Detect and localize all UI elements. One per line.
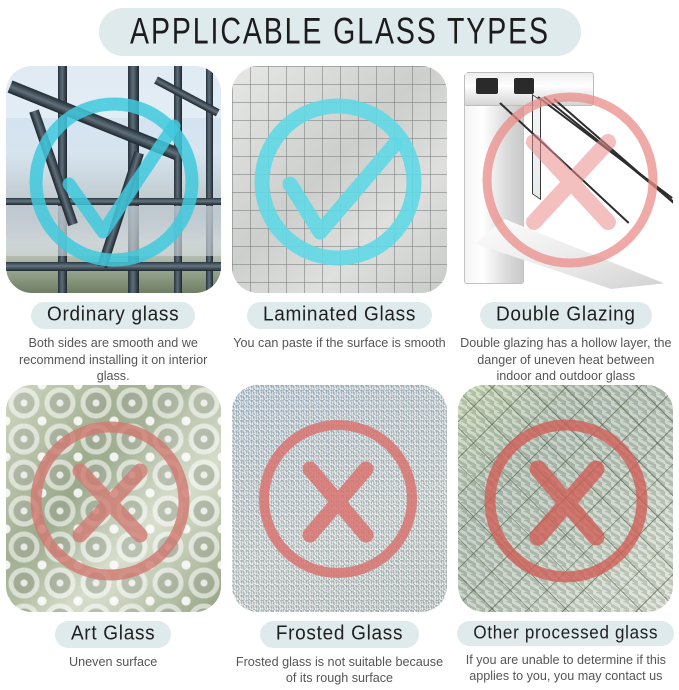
reject-cross-mark-icon (6, 385, 221, 612)
image-frosted-glass (232, 385, 447, 612)
card-description: If you are unable to determine if this a… (459, 652, 673, 685)
reject-cross-mark-icon (458, 66, 673, 293)
image-ordinary-glass (6, 66, 221, 293)
approve-check-mark-icon (232, 66, 447, 293)
card-description: Double glazing has a hollow layer, the d… (459, 335, 673, 385)
card-art-glass[interactable]: Art Glass Uneven surface (0, 385, 226, 687)
card-laminated-glass[interactable]: Laminated Glass You can paste if the sur… (226, 66, 452, 385)
card-title: Art Glass (71, 622, 155, 646)
label-pill-other-processed-glass: Other processed glass (457, 621, 674, 646)
label-pill-ordinary-glass: Ordinary glass (31, 302, 195, 329)
reject-cross-mark-icon (458, 385, 673, 612)
reject-cross-mark-icon (232, 385, 447, 612)
card-title: Frosted Glass (276, 622, 403, 646)
approve-check-mark-icon (6, 66, 221, 293)
card-double-glazing[interactable]: Double Glazing Double glazing has a holl… (453, 66, 679, 385)
glass-types-grid: Ordinary glass Both sides are smooth and… (0, 66, 679, 687)
card-other-processed-glass[interactable]: Other processed glass If you are unable … (453, 385, 679, 687)
label-pill-laminated-glass: Laminated Glass (247, 302, 432, 329)
header: APPLICABLE GLASS TYPES (0, 0, 679, 66)
card-description: You can paste if the surface is smooth (232, 335, 446, 352)
label-pill-art-glass: Art Glass (55, 621, 171, 648)
image-other-processed-glass (458, 385, 673, 612)
card-ordinary-glass[interactable]: Ordinary glass Both sides are smooth and… (0, 66, 226, 385)
image-double-glazing (458, 66, 673, 293)
card-description: Uneven surface (6, 654, 220, 671)
card-title: Laminated Glass (263, 303, 416, 327)
page-title: APPLICABLE GLASS TYPES (130, 11, 550, 54)
label-pill-double-glazing: Double Glazing (480, 302, 652, 329)
image-art-glass (6, 385, 221, 612)
label-pill-frosted-glass: Frosted Glass (260, 621, 419, 648)
card-title: Other processed glass (473, 622, 658, 644)
header-pill: APPLICABLE GLASS TYPES (99, 8, 581, 56)
card-frosted-glass[interactable]: Frosted Glass Frosted glass is not suita… (226, 385, 452, 687)
card-title: Double Glazing (496, 303, 636, 327)
card-description: Frosted glass is not suitable because of… (232, 654, 446, 687)
card-title: Ordinary glass (47, 303, 179, 327)
image-laminated-glass (232, 66, 447, 293)
card-description: Both sides are smooth and we recommend i… (6, 335, 220, 385)
